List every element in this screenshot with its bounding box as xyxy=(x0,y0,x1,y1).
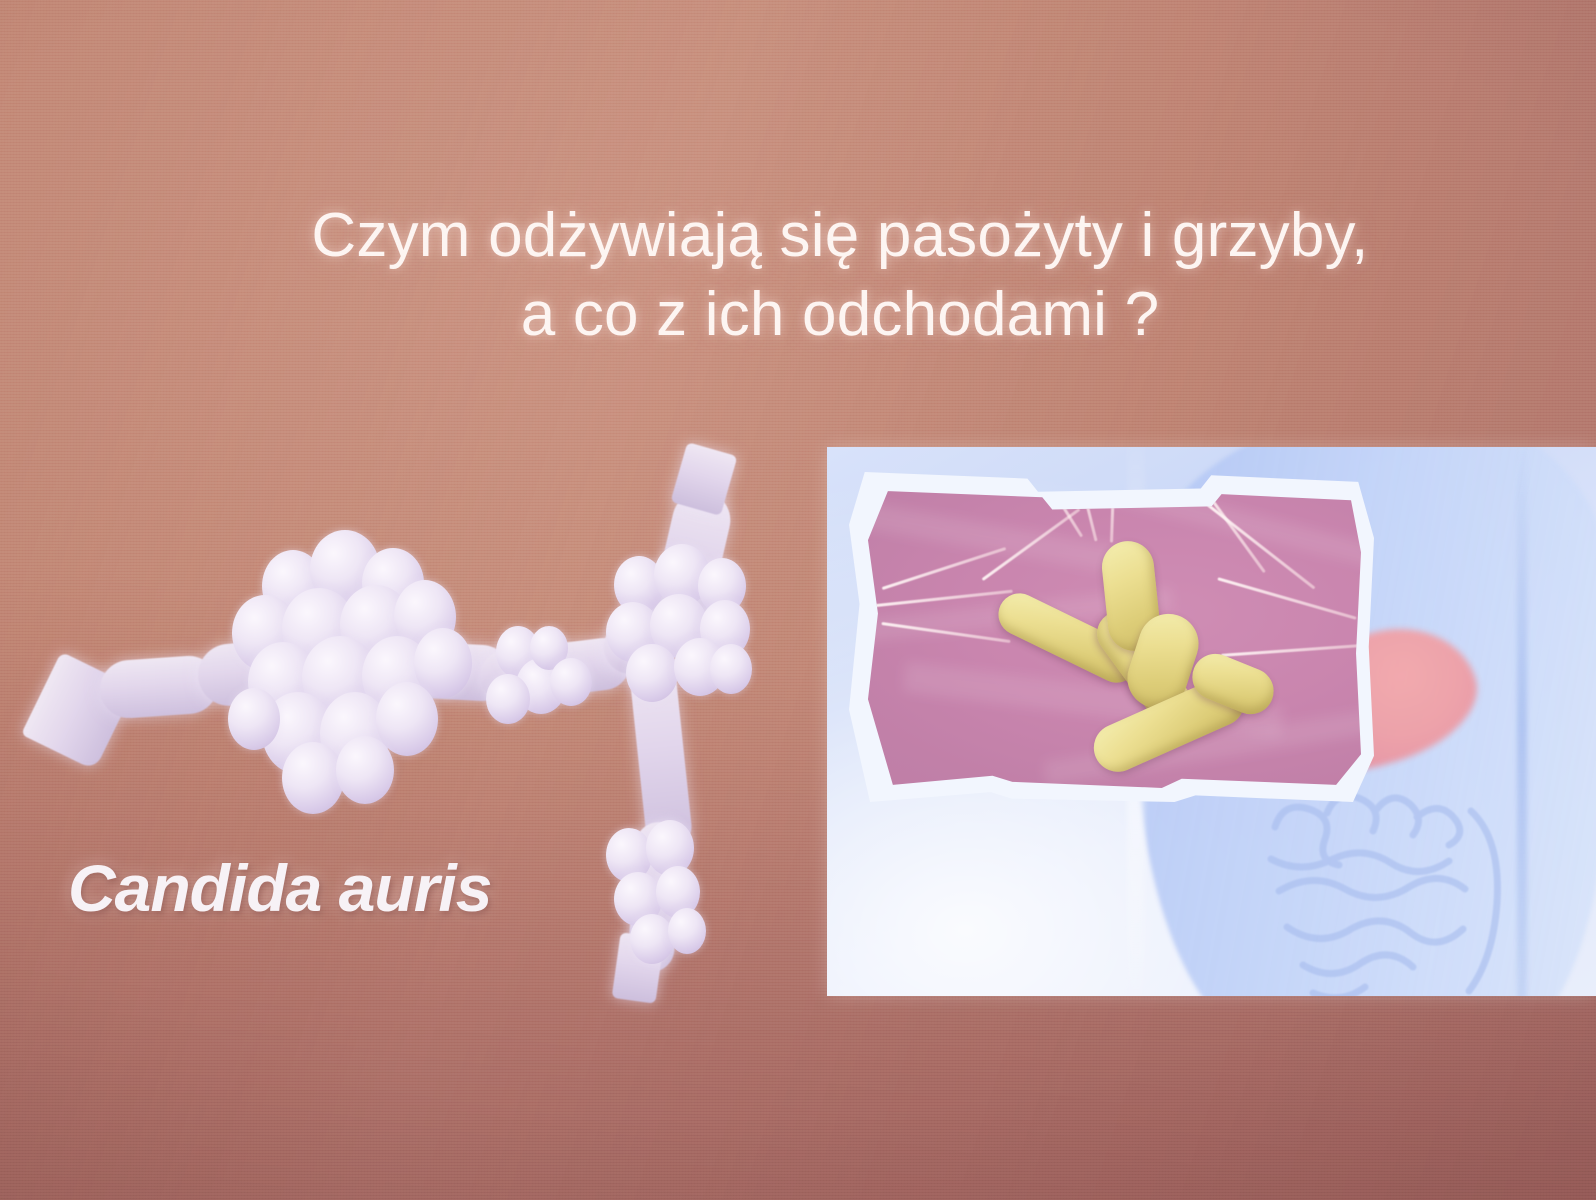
candida-auris-figure: Candida auris xyxy=(10,430,800,1010)
intestine-icon xyxy=(1257,787,1557,996)
digestive-system-panel xyxy=(827,447,1596,996)
helicobacter-bacteria-icon xyxy=(863,485,1361,791)
candida-auris-caption: Candida auris xyxy=(68,850,491,926)
presentation-slide: Czym odżywiają się pasożyty i grzyby, a … xyxy=(0,0,1596,1200)
slide-title: Czym odżywiają się pasożyty i grzyby, a … xyxy=(245,196,1435,355)
